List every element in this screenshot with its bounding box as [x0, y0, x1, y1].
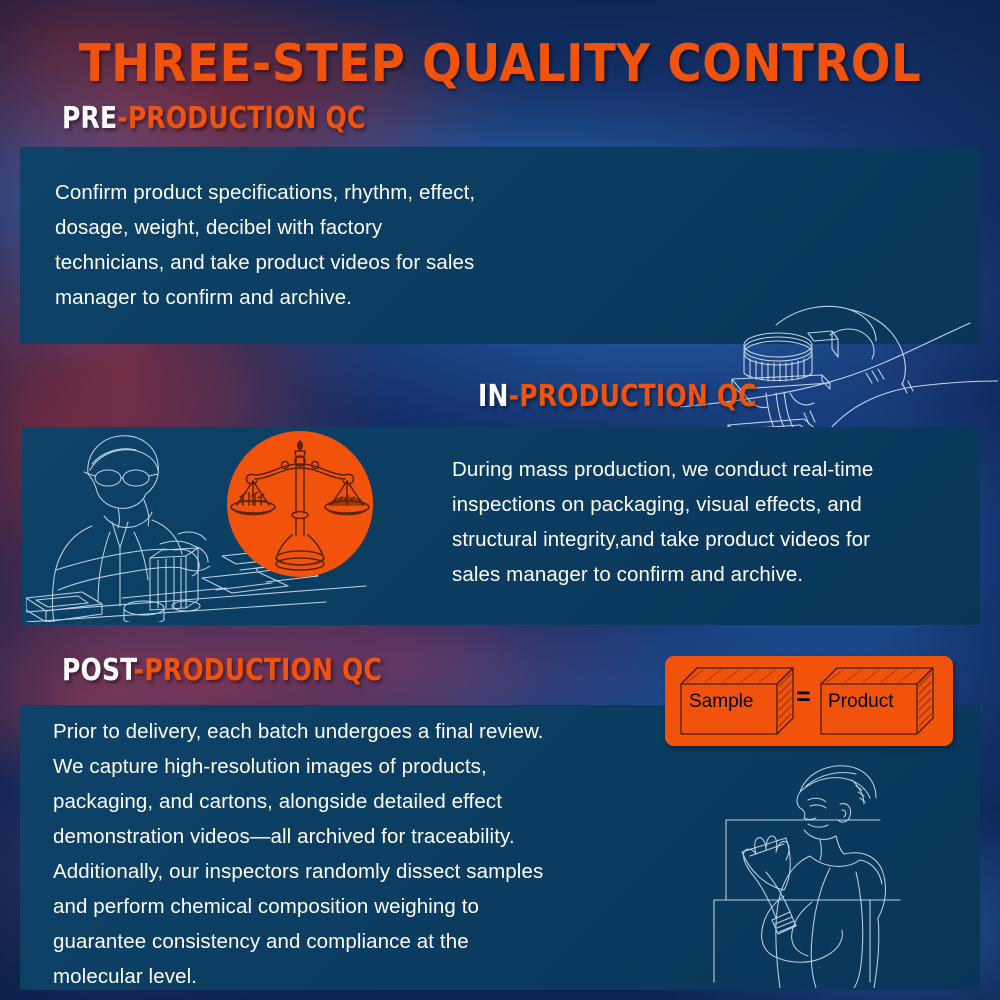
- step-heading-pre-orange: -PRODUCTION QC: [117, 100, 365, 135]
- body-line: technicians, and take product videos for…: [55, 245, 645, 280]
- body-line: sales manager to confirm and archive.: [452, 557, 982, 592]
- body-line: During mass production, we conduct real-…: [452, 452, 982, 487]
- body-line: Confirm product specifications, rhythm, …: [55, 175, 645, 210]
- inspector-reading-illustration: [680, 752, 980, 988]
- step-heading-post-production: POST-PRODUCTION QC: [62, 652, 382, 687]
- body-line: molecular level.: [53, 959, 673, 994]
- sample-equals-product-badge: Sample = Product: [665, 656, 953, 746]
- step-heading-in-orange: -PRODUCTION QC: [509, 378, 757, 413]
- body-line: guarantee consistency and compliance at …: [53, 924, 673, 959]
- body-line: inspections on packaging, visual effects…: [452, 487, 982, 522]
- body-line: Prior to delivery, each batch undergoes …: [53, 714, 673, 749]
- step-body-pre-production: Confirm product specifications, rhythm, …: [55, 175, 645, 315]
- equals-sign: =: [796, 688, 811, 707]
- step-card-pre-production: Confirm product specifications, rhythm, …: [20, 147, 980, 344]
- step-body-post-production: Prior to delivery, each batch undergoes …: [53, 714, 673, 994]
- body-line: structural integrity,and take product vi…: [452, 522, 982, 557]
- infographic-poster: THREE-STEP QUALITY CONTROL PRE-PRODUCTIO…: [0, 0, 1000, 1000]
- body-line: Additionally, our inspectors randomly di…: [53, 854, 673, 889]
- body-line: dosage, weight, decibel with factory: [55, 210, 645, 245]
- body-line: manager to confirm and archive.: [55, 280, 645, 315]
- body-line: and perform chemical composition weighin…: [53, 889, 673, 924]
- page-title: THREE-STEP QUALITY CONTROL: [0, 34, 1000, 94]
- balance-scale-badge: [227, 431, 373, 577]
- step-body-in-production: During mass production, we conduct real-…: [452, 452, 982, 592]
- step-heading-post-white: POST: [62, 652, 134, 687]
- body-line: demonstration videos—all archived for tr…: [53, 819, 673, 854]
- step-heading-in-white: IN: [478, 378, 509, 413]
- step-heading-post-orange: -PRODUCTION QC: [134, 652, 382, 687]
- sample-box-label: Sample: [689, 692, 753, 711]
- body-line: We capture high-resolution images of pro…: [53, 749, 673, 784]
- step-heading-in-production: IN-PRODUCTION QC: [478, 378, 757, 413]
- body-line: packaging, and cartons, alongside detail…: [53, 784, 673, 819]
- step-heading-pre-white: PRE: [62, 100, 117, 135]
- step-heading-pre-production: PRE-PRODUCTION QC: [62, 100, 366, 135]
- product-box-label: Product: [828, 692, 893, 711]
